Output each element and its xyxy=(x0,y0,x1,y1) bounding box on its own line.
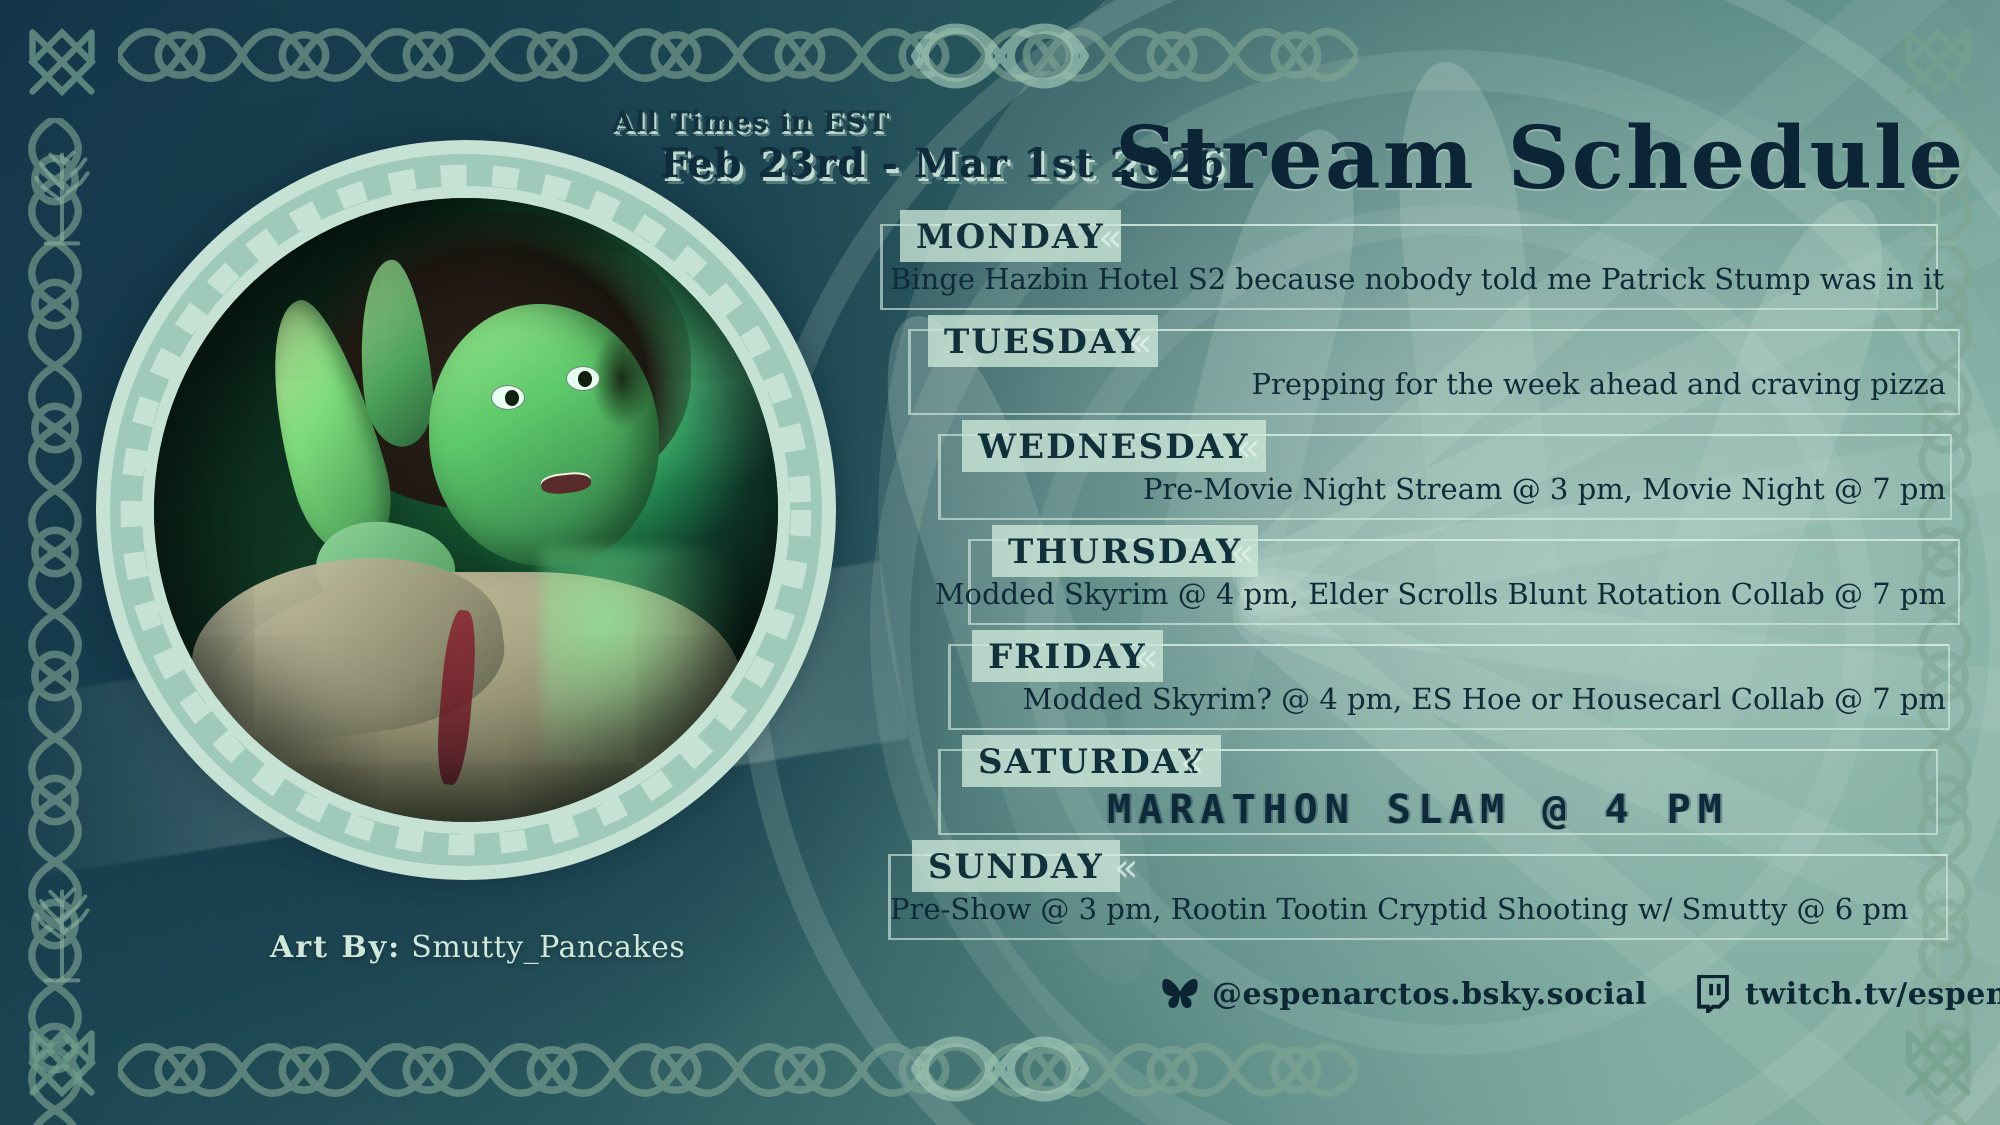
schedule-row-thursday: THURSDAY « Modded Skyrim @ 4 pm, Elder S… xyxy=(880,525,1960,630)
portrait-illustration xyxy=(154,198,778,822)
chevron-left-icon: « xyxy=(1236,428,1260,468)
day-label-chip: TUESDAY xyxy=(928,315,1158,367)
day-label-chip: SUNDAY xyxy=(912,840,1120,892)
bluesky-handle: @espenarctos.bsky.social xyxy=(1212,977,1647,1012)
social-twitch[interactable]: twitch.tv/espenvt xyxy=(1693,975,2000,1013)
artist-credit-name: Smutty_Pancakes xyxy=(411,930,685,965)
chevron-left-icon: « xyxy=(1134,638,1158,678)
schedule-row-sunday: SUNDAY « Pre-Show @ 3 pm, Rootin Tootin … xyxy=(880,840,1960,945)
day-label: FRIDAY xyxy=(988,640,1147,674)
schedule-row-wednesday: WEDNESDAY « Pre-Movie Night Stream @ 3 p… xyxy=(880,420,1960,525)
celtic-knot-corner-icon xyxy=(1892,1017,1984,1109)
chevron-left-icon: « xyxy=(1098,218,1122,258)
artist-credit-prefix: Art By: xyxy=(270,930,401,965)
day-label-chip: THURSDAY xyxy=(992,525,1258,577)
timezone-note: All Times in EST xyxy=(612,105,888,138)
chevron-left-icon: « xyxy=(1128,323,1152,363)
celtic-knot-border-top xyxy=(118,24,1358,86)
twitch-icon xyxy=(1693,975,1733,1013)
page-title: Stream Schedule xyxy=(1115,108,1965,209)
day-label-chip: MONDAY xyxy=(900,210,1121,262)
celtic-knot-corner-icon xyxy=(1892,16,1984,108)
stream-schedule-graphic: All Times in EST Feb 23rd - Mar 1st 2026… xyxy=(0,0,2000,1125)
bare-tree-icon xyxy=(26,136,98,248)
celtic-knot-corner-icon xyxy=(16,16,108,108)
row-description: Prepping for the week ahead and craving … xyxy=(890,367,1946,401)
chevron-left-icon: « xyxy=(1114,848,1138,888)
social-bluesky[interactable]: @espenarctos.bsky.social xyxy=(1160,975,1647,1013)
day-label: MONDAY xyxy=(916,220,1105,254)
row-description: Binge Hazbin Hotel S2 because nobody tol… xyxy=(890,262,1946,296)
social-links: @espenarctos.bsky.social twitch.tv/espen… xyxy=(1160,975,2000,1013)
schedule-list: MONDAY « Binge Hazbin Hotel S2 because n… xyxy=(880,210,1960,945)
day-label: THURSDAY xyxy=(1008,535,1242,569)
celtic-knot-medallion-icon xyxy=(895,1021,1105,1117)
row-description: Modded Skyrim @ 4 pm, Elder Scrolls Blun… xyxy=(890,577,1946,611)
schedule-row-friday: FRIDAY « Modded Skyrim? @ 4 pm, ES Hoe o… xyxy=(880,630,1960,735)
day-label: TUESDAY xyxy=(944,325,1142,359)
chevron-left-icon: « xyxy=(1180,743,1204,783)
row-description: Pre-Show @ 3 pm, Rootin Tootin Cryptid S… xyxy=(890,892,1946,926)
day-label-chip: WEDNESDAY xyxy=(962,420,1266,472)
bluesky-butterfly-icon xyxy=(1160,975,1200,1013)
bare-tree-icon xyxy=(26,873,98,985)
artist-portrait xyxy=(96,140,836,880)
schedule-row-saturday: SATURDAY « MARATHON SLAM @ 4 PM xyxy=(880,735,1960,840)
day-label: WEDNESDAY xyxy=(978,430,1250,464)
row-description: Pre-Movie Night Stream @ 3 pm, Movie Nig… xyxy=(890,472,1946,506)
day-label: SATURDAY xyxy=(978,745,1205,779)
twitch-handle: twitch.tv/espenvt xyxy=(1745,977,2000,1012)
celtic-knot-medallion-icon xyxy=(895,8,1105,104)
artist-credit: Art By: Smutty_Pancakes xyxy=(270,930,685,965)
day-label: SUNDAY xyxy=(928,850,1104,884)
chevron-left-icon: « xyxy=(1230,533,1254,573)
schedule-row-tuesday: TUESDAY « Prepping for the week ahead an… xyxy=(880,315,1960,420)
celtic-knot-border-bottom xyxy=(118,1039,1358,1101)
row-description: MARATHON SLAM @ 4 PM xyxy=(890,787,1946,833)
celtic-knot-corner-icon xyxy=(16,1017,108,1109)
schedule-row-monday: MONDAY « Binge Hazbin Hotel S2 because n… xyxy=(880,210,1960,315)
row-description: Modded Skyrim? @ 4 pm, ES Hoe or Houseca… xyxy=(890,682,1946,716)
